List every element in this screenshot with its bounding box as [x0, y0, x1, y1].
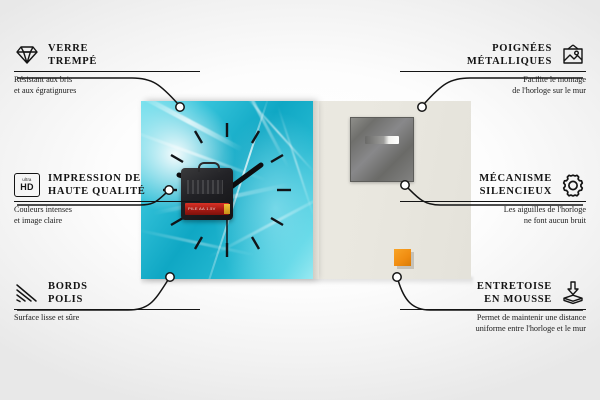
callout-desc: Les aiguilles de l'horloge ne font aucun…: [400, 205, 586, 226]
callout-head: MÉCANISME SILENCIEUX: [400, 172, 586, 198]
foam-spacer: [394, 249, 411, 266]
callout-desc: Couleurs intenses et image claire: [14, 205, 200, 226]
callout-head: VERRE TREMPÉ: [14, 42, 200, 68]
gear-icon: [560, 172, 586, 198]
callout-entretoise-mousse: ENTRETOISE EN MOUSSE Permet de maintenir…: [400, 280, 586, 334]
callout-title: BORDS POLIS: [48, 280, 88, 306]
battery-tip: [224, 204, 230, 214]
callout-impression-hd: ultra HD IMPRESSION DE HAUTE QUALITÉ Cou…: [14, 172, 200, 226]
callout-title: POIGNÉES MÉTALLIQUES: [467, 42, 552, 68]
callout-desc: Permet de maintenir une distance uniform…: [400, 313, 586, 334]
hanger-slot: [365, 136, 399, 144]
callout-mecanisme-silencieux: MÉCANISME SILENCIEUX Les aiguilles de l'…: [400, 172, 586, 226]
polished-edges-icon: [14, 280, 40, 306]
callout-head: POIGNÉES MÉTALLIQUES: [400, 42, 586, 68]
callout-rule: [14, 309, 200, 310]
callout-head: ultra HD IMPRESSION DE HAUTE QUALITÉ: [14, 172, 200, 198]
hd-badge: ultra HD: [14, 173, 40, 197]
callout-rule: [400, 71, 586, 72]
diamond-icon: [14, 42, 40, 68]
callout-title: VERRE TREMPÉ: [48, 42, 97, 68]
panel-gap: [313, 101, 319, 279]
callout-rule: [400, 201, 586, 202]
callout-desc: Facilite le montage de l'horloge sur le …: [400, 75, 586, 96]
callout-rule: [14, 71, 200, 72]
callout-title: MÉCANISME SILENCIEUX: [479, 172, 552, 198]
mechanism-shaft: [198, 162, 220, 172]
callout-head: BORDS POLIS: [14, 280, 200, 306]
callout-verre-trempe: VERRE TREMPÉ Résistant aux bris et aux é…: [14, 42, 200, 96]
foam-spacer-icon: [560, 280, 586, 306]
callout-title: ENTRETOISE EN MOUSSE: [477, 280, 552, 306]
callout-title: IMPRESSION DE HAUTE QUALITÉ: [48, 172, 146, 198]
callout-rule: [14, 201, 200, 202]
callout-desc: Résistant aux bris et aux égratignures: [14, 75, 200, 96]
callout-head: ENTRETOISE EN MOUSSE: [400, 280, 586, 306]
callout-desc: Surface lisse et sûre: [14, 313, 200, 324]
hd-badge-large-text: HD: [20, 183, 33, 193]
picture-frame-icon: [560, 42, 586, 68]
callout-bords-polis: BORDS POLIS Surface lisse et sûre: [14, 280, 200, 324]
product-infographic: PILE AA 1.5V: [0, 0, 600, 400]
ultra-hd-icon: ultra HD: [14, 172, 40, 198]
callout-poignees-metalliques: POIGNÉES MÉTALLIQUES Facilite le montage…: [400, 42, 586, 96]
callout-rule: [400, 309, 586, 310]
